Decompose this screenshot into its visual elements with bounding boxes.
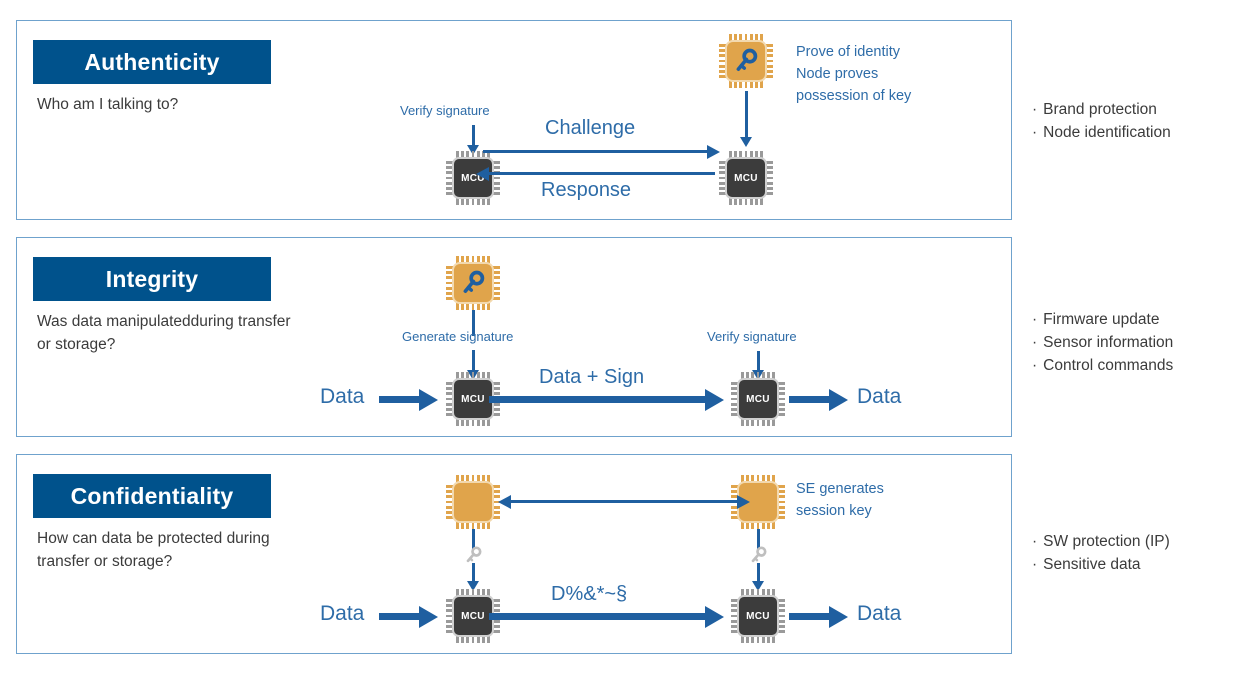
label-data-out: Data [857,602,901,626]
list-item: ·Sensor information [1032,331,1173,354]
bullet-icon: · [1032,533,1037,550]
secure-element-left [446,475,500,529]
note-line: Prove of identity [796,41,911,63]
mcu-label: MCU [746,611,770,622]
label-data-plus-sign: Data + Sign [539,366,644,389]
label-data-in: Data [320,602,364,626]
panel-header-confidentiality: Confidentiality [33,474,271,518]
bullet-icon: · [1032,101,1037,118]
note-line: session key [796,500,884,522]
arrow-data-out-shaft [789,613,831,620]
label-challenge: Challenge [545,117,635,140]
arrow-data-out-head [829,389,848,411]
mcu-pins-bottom [456,419,490,426]
grey-key-icon [748,545,768,565]
mcu-pins-bottom [456,636,490,643]
mcu-chip-right: MCU [719,151,773,205]
arrow-verify-into-mcu-shaft [472,125,475,147]
arrow-se-to-mcu-head [740,137,752,147]
arrow-channel-shaft [489,396,707,403]
note-line: Node proves [796,63,911,85]
arrow-channel-shaft [489,613,707,620]
panel-question: Who am I talking to? [37,93,297,116]
arrow-left-se-down-lower [472,563,475,583]
diagram-canvas: Authenticity Who am I talking to? Verify… [0,0,1241,690]
arrow-se-session-head-left [498,495,511,509]
note-line: possession of key [796,85,911,107]
benefits-list-authenticity: ·Brand protection ·Node identification [1032,98,1171,144]
arrow-response-shaft [489,172,715,175]
se-pins-right [778,485,785,519]
arrow-right-se-down-lower [757,563,760,583]
arrow-se-session-shaft [511,500,739,503]
list-item: ·Control commands [1032,354,1173,377]
bullet-icon: · [1032,556,1037,573]
benefits-list-confidentiality: ·SW protection (IP) ·Sensitive data [1032,530,1170,576]
arrow-se-to-mcu-shaft [745,91,748,139]
se-pins-right [493,266,500,300]
se-body [725,40,767,82]
arrow-se-to-mcu-shaft-lower [472,350,475,372]
panel-header-authenticity: Authenticity [33,40,271,84]
note-se-session-key: SE generates session key [796,478,884,522]
secure-element-key-chip [446,256,500,310]
arrow-challenge-head [707,145,720,159]
arrow-data-in-shaft [379,396,421,403]
panel-confidentiality: Confidentiality How can data be protecte… [16,454,1012,654]
panel-question: How can data be protected during transfe… [37,527,297,573]
list-item-label: Node identification [1043,124,1171,141]
arrow-response-head [476,167,489,181]
panel-title: Integrity [106,266,199,293]
panel-title: Confidentiality [71,483,234,510]
mcu-pins-right [778,599,785,633]
mcu-label: MCU [461,394,485,405]
mcu-chip-right: MCU [731,372,785,426]
se-pins-bottom [456,303,490,310]
mcu-body: MCU [737,378,779,420]
mcu-pins-bottom [741,419,775,426]
list-item-label: Control commands [1043,357,1173,374]
label-response: Response [541,179,631,202]
secure-element-key-chip [719,34,773,88]
arrow-data-in-head [419,606,438,628]
benefits-list-integrity: ·Firmware update ·Sensor information ·Co… [1032,308,1173,377]
bullet-icon: · [1032,357,1037,374]
label-verify-signature: Verify signature [707,329,797,344]
list-item-label: Sensitive data [1043,556,1140,573]
mcu-pins-bottom [729,198,763,205]
mcu-pins-bottom [456,198,490,205]
bullet-icon: · [1032,124,1037,141]
panel-integrity: Integrity Was data manipulatedduring tra… [16,237,1012,437]
mcu-body: MCU [452,595,494,637]
panel-authenticity: Authenticity Who am I talking to? Verify… [16,20,1012,220]
bullet-icon: · [1032,311,1037,328]
mcu-label: MCU [746,394,770,405]
mcu-body: MCU [737,595,779,637]
se-body [452,262,494,304]
list-item-label: SW protection (IP) [1043,533,1170,550]
list-item: ·Brand protection [1032,98,1171,121]
mcu-pins-right [778,382,785,416]
arrow-channel-head [705,389,724,411]
arrow-data-in-shaft [379,613,421,620]
label-encrypted-channel: D%&*~§ [551,583,627,606]
mcu-chip-right: MCU [731,589,785,643]
arrow-data-in-head [419,389,438,411]
list-item: ·Sensitive data [1032,553,1170,576]
list-item-label: Brand protection [1043,101,1157,118]
label-generate-signature: Generate signature [402,329,513,344]
mcu-label: MCU [734,173,758,184]
se-pins-bottom [456,522,490,529]
se-body [452,481,494,523]
list-item-label: Sensor information [1043,334,1173,351]
panel-header-integrity: Integrity [33,257,271,301]
label-data-in: Data [320,385,364,409]
panel-title: Authenticity [84,49,219,76]
key-icon [460,270,486,296]
arrow-channel-head [705,606,724,628]
note-prove-identity: Prove of identity Node proves possession… [796,41,911,107]
grey-key-icon [463,545,483,565]
mcu-pins-right [493,161,500,195]
label-verify-signature: Verify signature [400,103,490,118]
list-item: ·SW protection (IP) [1032,530,1170,553]
mcu-body: MCU [452,378,494,420]
key-icon [733,48,759,74]
mcu-pins-bottom [741,636,775,643]
list-item-label: Firmware update [1043,311,1159,328]
bullet-icon: · [1032,334,1037,351]
se-pins-right [766,44,773,78]
mcu-body: MCU [725,157,767,199]
note-line: SE generates [796,478,884,500]
mcu-chip-left: MCU [446,151,500,205]
list-item: ·Firmware update [1032,308,1173,331]
arrow-data-out-head [829,606,848,628]
arrow-se-session-head-right [737,495,750,509]
label-data-out: Data [857,385,901,409]
mcu-label: MCU [461,611,485,622]
list-item: ·Node identification [1032,121,1171,144]
se-pins-bottom [729,81,763,88]
arrow-verify-into-mcu-shaft [757,351,760,372]
arrow-challenge-shaft [483,150,709,153]
mcu-pins-right [766,161,773,195]
se-pins-bottom [741,522,775,529]
panel-question: Was data manipulatedduring transfer or s… [37,310,297,356]
arrow-data-out-shaft [789,396,831,403]
